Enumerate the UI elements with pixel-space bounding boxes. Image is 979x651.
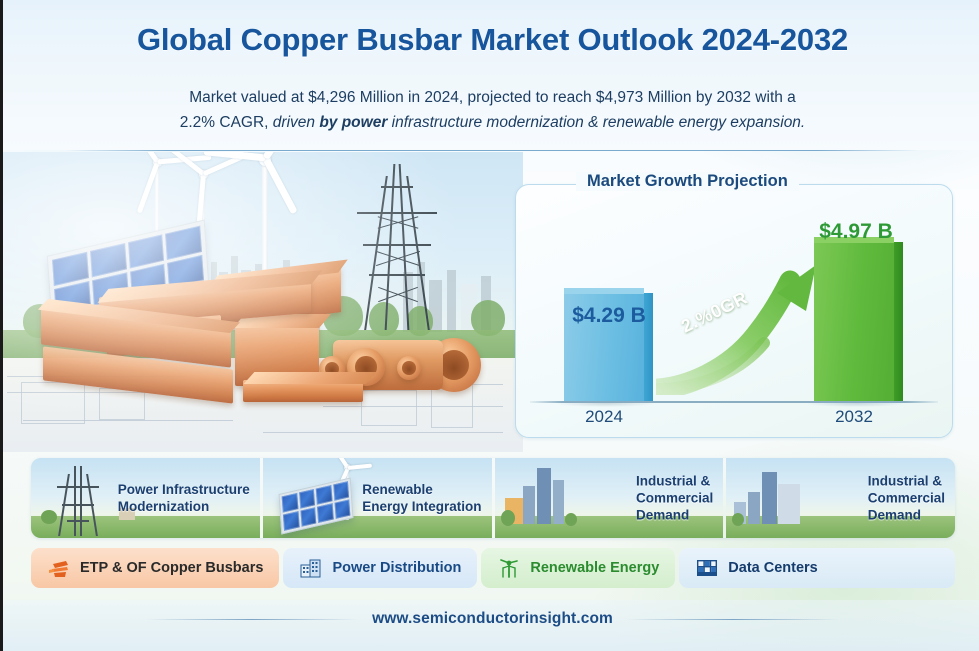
- x-tick-2032: 2032: [799, 407, 909, 427]
- turbine-blade: [333, 458, 350, 469]
- card-building: [523, 486, 535, 524]
- bar-2024-top: [564, 288, 644, 294]
- card-art-city: [501, 458, 593, 538]
- card-tree: [565, 513, 577, 526]
- header-divider: [65, 150, 920, 151]
- subtitle-tail: infrastructure modernization & renewable…: [392, 114, 806, 131]
- driver-card-industrial-commercial-1[interactable]: Industrial & Commercial Demand: [495, 458, 724, 538]
- card-label-line2: Commercial: [868, 491, 945, 506]
- page-subtitle: Market valued at $4,296 Million in 2024,…: [91, 85, 894, 135]
- infographic-poster: Global Copper Busbar Market Outlook 2024…: [0, 0, 979, 651]
- footer-content: www.semiconductorinsight.com: [3, 610, 979, 628]
- card-label: Power Infrastructure Modernization: [118, 481, 250, 515]
- card-label: Renewable Energy Integration: [362, 481, 481, 515]
- driver-card-renewable-energy[interactable]: Renewable Energy Integration: [263, 458, 492, 538]
- card-building: [762, 472, 777, 524]
- driver-card-industrial-commercial-2[interactable]: Industrial & Commercial Demand: [726, 458, 955, 538]
- card-label-line2: Modernization: [118, 499, 210, 514]
- card-building: [537, 468, 551, 524]
- chip-renewable-energy[interactable]: Renewable Energy: [481, 548, 675, 588]
- bar-value-2024: $4.29 B: [564, 304, 654, 328]
- header-band: Global Copper Busbar Market Outlook 2024…: [3, 0, 979, 150]
- hero-haze-overlay: [3, 152, 523, 452]
- category-chips-row: ETP & OF Copper Busbars Power Distributi…: [31, 548, 955, 588]
- card-art-pylon: [37, 458, 129, 538]
- solar-cell: [334, 499, 350, 519]
- footer-url[interactable]: www.semiconductorinsight.com: [372, 610, 613, 628]
- card-solar-array: [278, 477, 353, 534]
- card-label-line3: Demand: [868, 508, 921, 523]
- chip-power-distribution[interactable]: Power Distribution: [283, 548, 477, 588]
- card-label-line1: Industrial &: [636, 474, 710, 489]
- chart-baseline-axis: [530, 401, 938, 403]
- card-label: Industrial & Commercial Demand: [868, 473, 945, 524]
- bar-value-2032: $4.97 B: [806, 220, 906, 244]
- solar-cell: [283, 511, 299, 531]
- footer-rule-right: [627, 619, 839, 620]
- solar-cell: [333, 481, 349, 501]
- solar-cell: [298, 489, 314, 509]
- solar-cell: [317, 503, 333, 523]
- footer-band: www.semiconductorinsight.com: [3, 600, 979, 651]
- buildings-icon: [299, 557, 323, 579]
- bar-2032-side: [894, 242, 903, 401]
- chip-data-centers[interactable]: Data Centers: [679, 548, 955, 588]
- chip-label: Renewable Energy: [530, 560, 659, 576]
- chip-etp-of-copper-busbars[interactable]: ETP & OF Copper Busbars: [31, 548, 279, 588]
- card-tree: [732, 513, 744, 526]
- card-building: [748, 492, 760, 524]
- chip-label: Power Distribution: [332, 560, 461, 576]
- solar-cell: [281, 493, 297, 513]
- x-tick-2024: 2024: [549, 407, 659, 427]
- market-growth-chart-panel: Market Growth Projection: [515, 184, 953, 438]
- hero-illustration: [3, 152, 523, 452]
- card-label-line1: Industrial &: [868, 474, 942, 489]
- card-label: Industrial & Commercial Demand: [636, 473, 713, 524]
- card-art-city: [732, 458, 824, 538]
- card-art-solar-wind: [269, 458, 361, 538]
- subtitle-driven: driven: [273, 114, 320, 131]
- copper-bars-icon: [47, 557, 71, 579]
- page-title: Global Copper Busbar Market Outlook 2024…: [3, 22, 979, 58]
- subtitle-by-power: by power: [319, 114, 391, 131]
- card-label-line2: Commercial: [636, 491, 713, 506]
- subtitle-line-1: Market valued at $4,296 Million in 2024,…: [189, 89, 796, 106]
- card-tree: [41, 510, 57, 524]
- card-tree: [501, 510, 515, 526]
- card-building: [553, 480, 564, 524]
- card-label-line1: Power Infrastructure: [118, 482, 250, 497]
- card-label-line2: Energy Integration: [362, 499, 481, 514]
- subtitle-cagr: 2.2% CAGR,: [180, 114, 273, 131]
- driver-cards-row: Power Infrastructure Modernization: [31, 458, 955, 538]
- solar-cell: [300, 507, 316, 527]
- bar-2032-face: [814, 242, 894, 401]
- card-label-line3: Demand: [636, 508, 689, 523]
- footer-rule-left: [146, 619, 358, 620]
- chip-label: ETP & OF Copper Busbars: [80, 560, 263, 576]
- solar-cell: [316, 485, 332, 505]
- chip-label: Data Centers: [728, 560, 817, 576]
- driver-card-power-infrastructure[interactable]: Power Infrastructure Modernization: [31, 458, 260, 538]
- card-building: [778, 484, 800, 524]
- bar-2032: [814, 242, 894, 401]
- server-rack-icon: [695, 557, 719, 579]
- card-label-line1: Renewable: [362, 482, 433, 497]
- bar-chart-plot: 2.%0GR $4.29 B $4.97 B 2024 2032: [516, 185, 952, 437]
- wind-turbine-icon: [497, 557, 521, 579]
